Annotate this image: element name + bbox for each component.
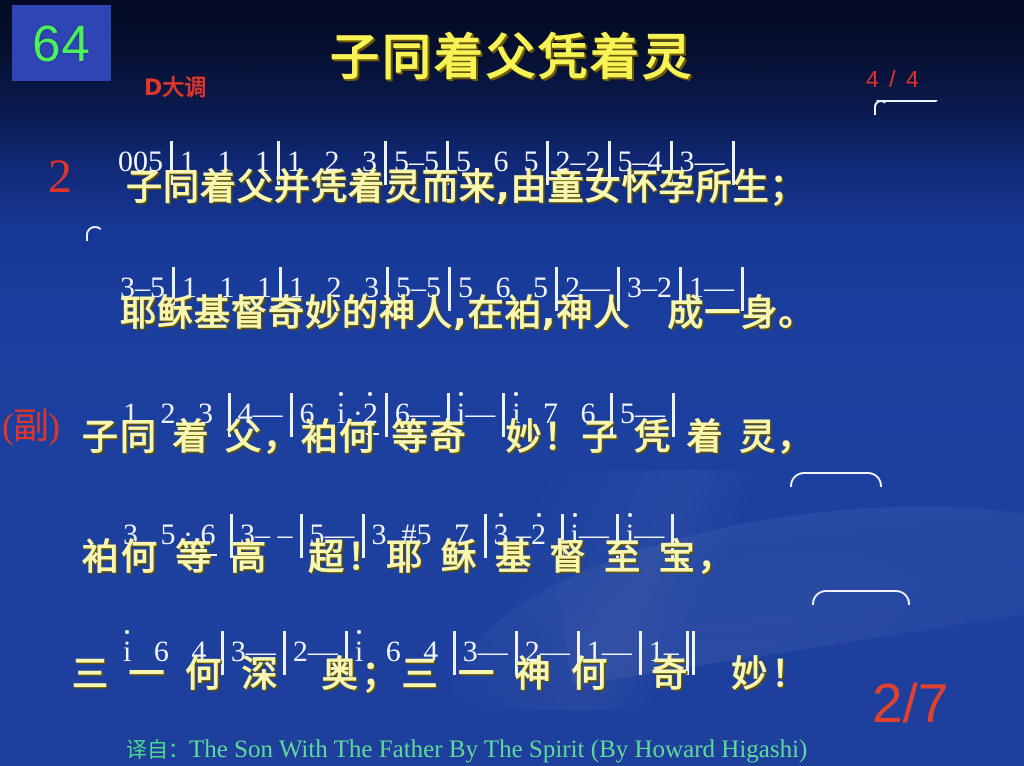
lyric-line-verse-2: 耶稣基督奇妙的神人,在袙,神人 成一身。	[120, 284, 815, 336]
lyric-line-chorus-2: 袙何 等 高 超！耶 稣 基 督 至 宝，	[82, 528, 737, 580]
lyric-line-verse-1: 子同着父并凭着灵而来,由童女怀孕所生；	[126, 158, 807, 210]
page-number: 2/7	[872, 676, 948, 731]
hymn-slide: 64 子同着父凭着灵 D大调 4 / 4 2 (副) 0051 1 11 2 3…	[0, 0, 1024, 766]
key-signature: D大调	[144, 70, 206, 102]
footer-label: 译自：	[126, 738, 189, 762]
chorus-marker: (副)	[2, 408, 59, 444]
footer-source-title: The Son With The Father By The Spirit (B…	[189, 736, 807, 763]
lyric-line-chorus-3: 三 一 何 深 奥；三 一 神 何 奇 妙！	[72, 645, 811, 697]
verse-number-marker: 2	[48, 153, 72, 201]
footer-attribution: 译自：The Son With The Father By The Spirit…	[103, 708, 807, 766]
time-signature: 4 / 4	[866, 66, 921, 93]
lyric-line-chorus-1: 子同 着 父，袙何 等奇 妙！子 凭 着 灵，	[82, 408, 815, 460]
